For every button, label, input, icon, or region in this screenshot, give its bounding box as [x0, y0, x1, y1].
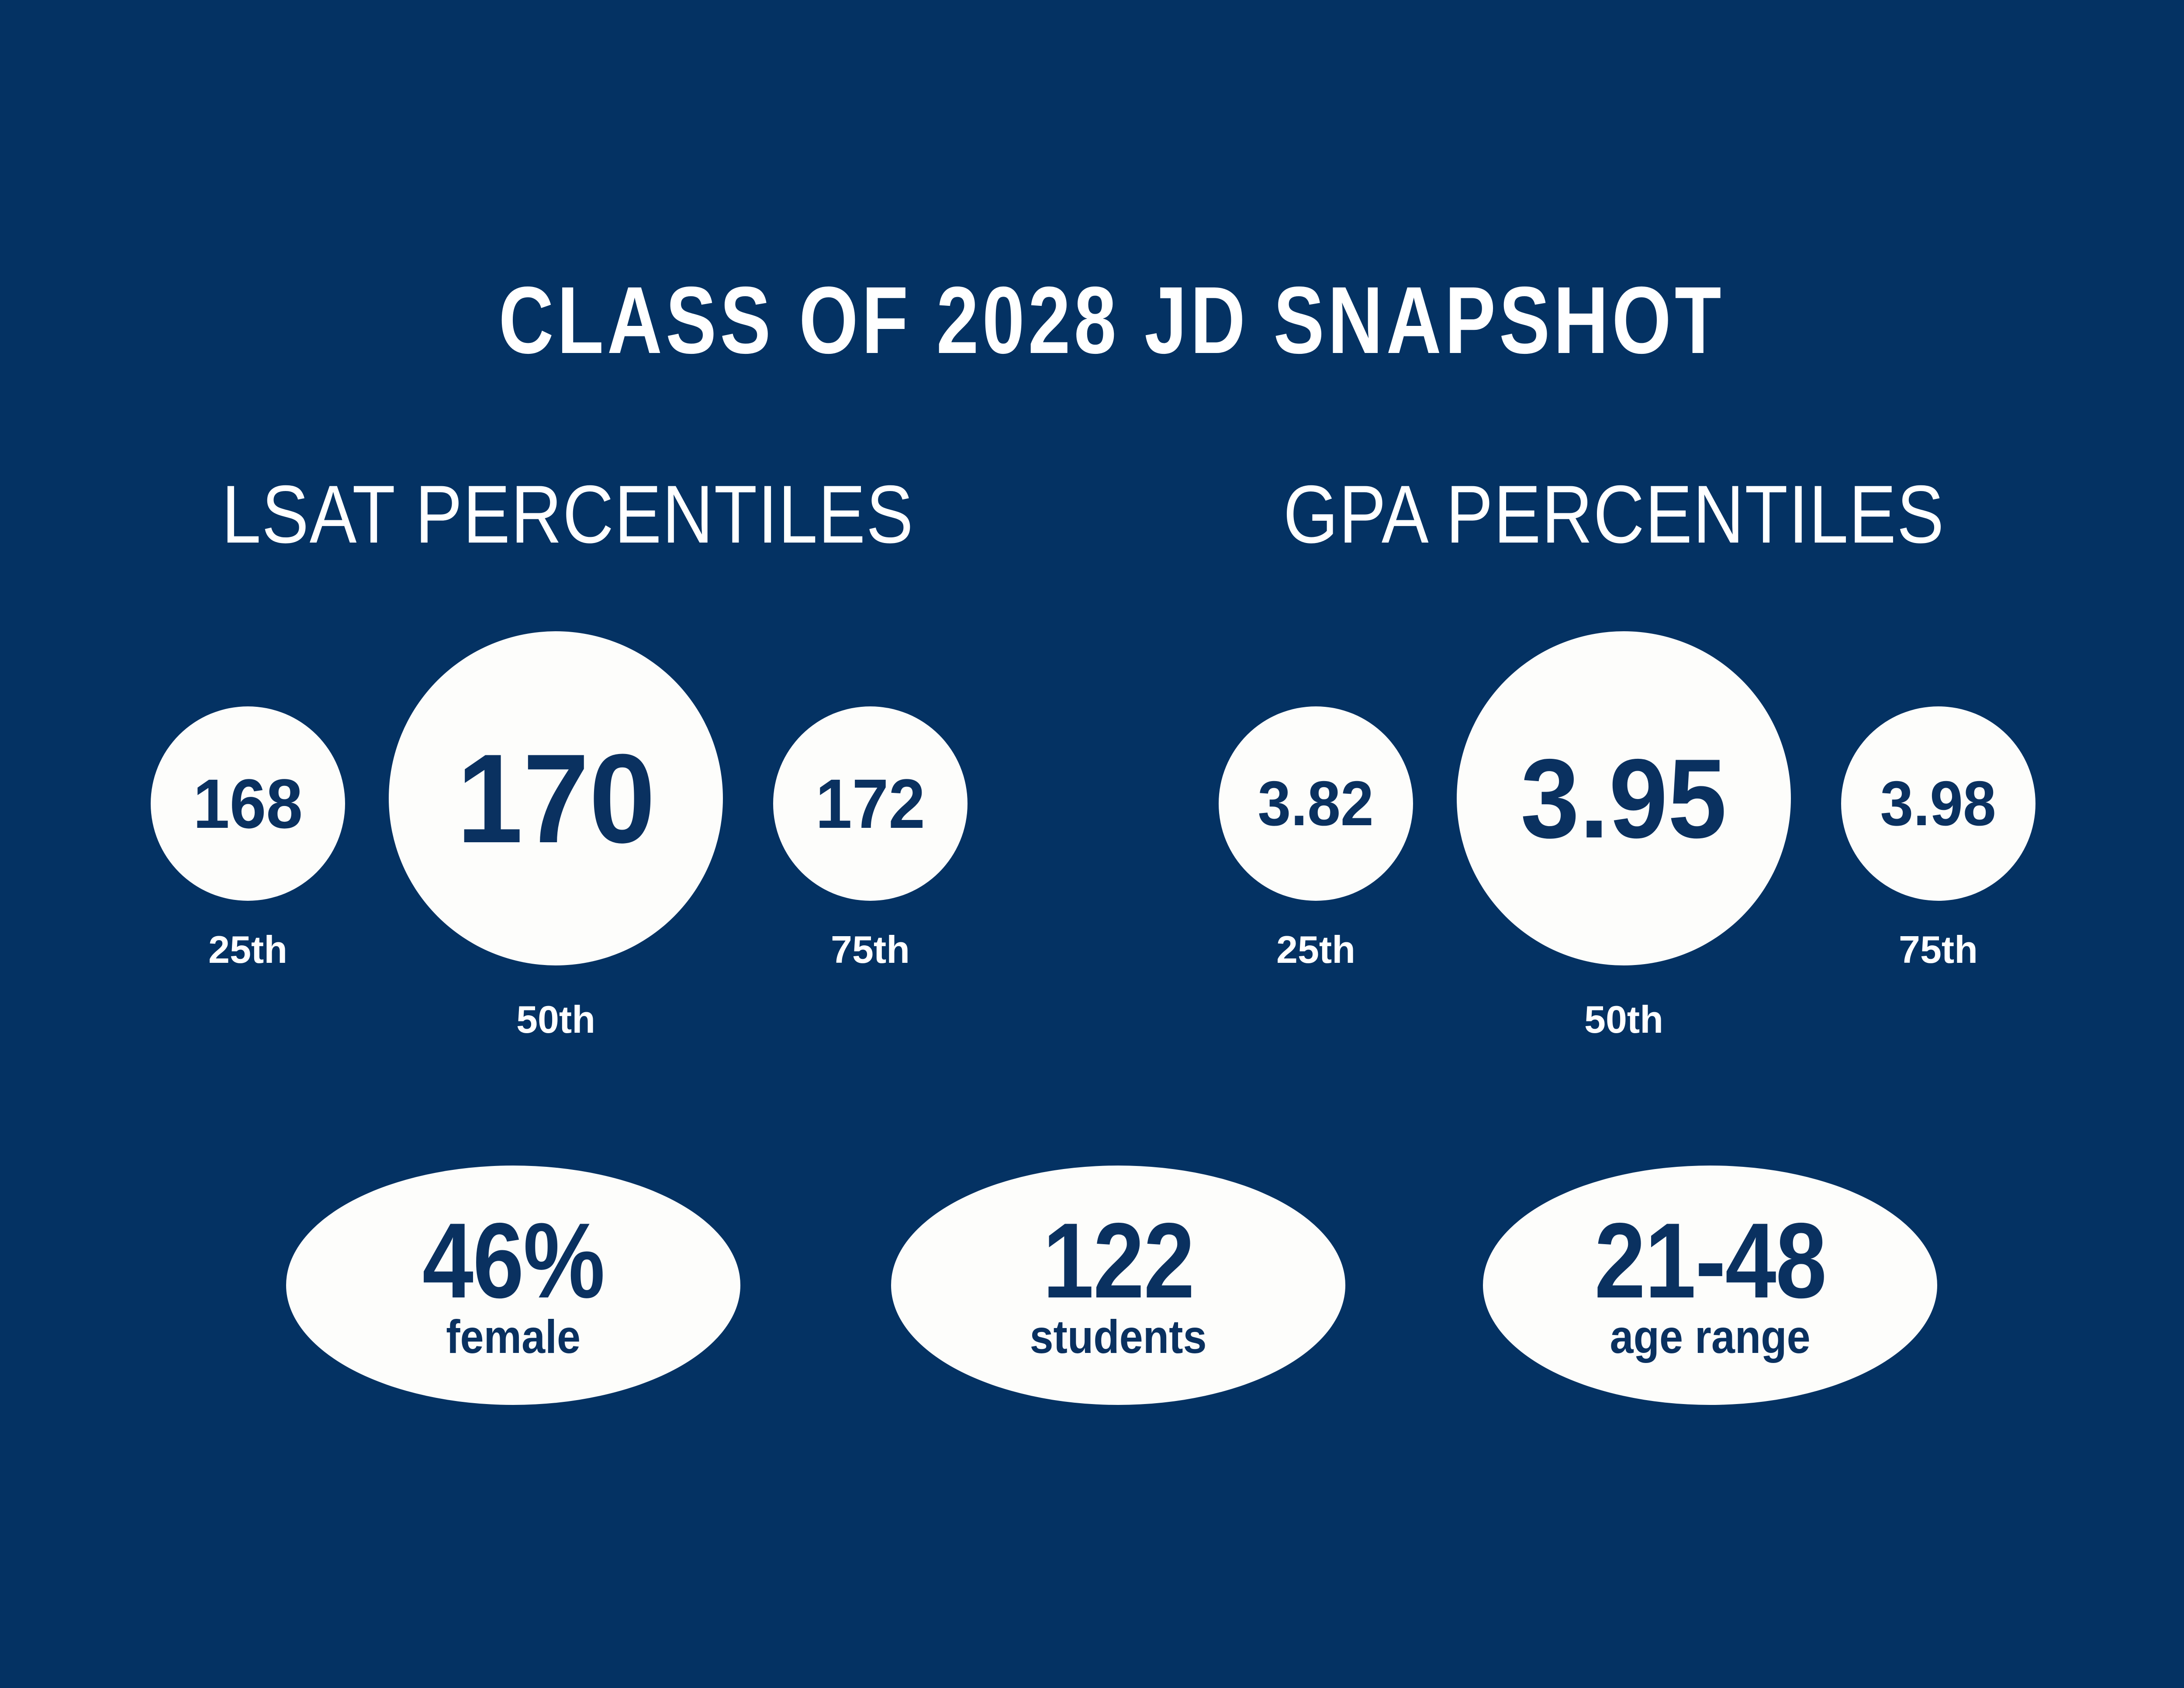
gpa-value-75th: 3.98 [1880, 772, 1996, 835]
lsat-percentile-group: 168 25th 170 50th 172 75th [131, 625, 996, 1040]
lsat-label-50th: 50th [389, 1000, 723, 1039]
gpa-value-50th: 3.95 [1521, 742, 1727, 855]
page-title: CLASS OF 2028 JD SNAPSHOT [222, 271, 2001, 371]
section-heading-lsat: LSAT PERCENTILES [156, 473, 979, 555]
gpa-label-25th: 25th [1219, 930, 1413, 969]
lsat-label-25th: 25th [151, 930, 345, 969]
gpa-label-75th: 75th [1841, 930, 2035, 969]
lsat-value-50th: 170 [456, 735, 655, 862]
lsat-bubble-75th: 172 [773, 706, 968, 901]
stat-label-age-range: age range [1610, 1313, 1810, 1360]
stat-label-female: female [446, 1313, 581, 1360]
infographic-canvas: CLASS OF 2028 JD SNAPSHOT LSAT PERCENTIL… [0, 0, 2184, 1688]
stat-pill-age-range: 21-48 age range [1483, 1166, 1937, 1405]
stat-pill-students: 122 students [891, 1166, 1345, 1405]
stat-label-students: students [1030, 1313, 1206, 1360]
stat-pill-row: 46% female 122 students 21-48 age range [0, 1166, 2184, 1410]
lsat-label-75th: 75th [773, 930, 968, 969]
gpa-percentile-group: 3.82 25th 3.95 50th 3.98 75th [1199, 625, 2064, 1040]
stat-value-age-range: 21-48 [1594, 1210, 1826, 1311]
lsat-value-25th: 168 [193, 769, 303, 839]
gpa-bubble-75th: 3.98 [1841, 706, 2035, 901]
lsat-bubble-50th: 170 [389, 631, 723, 965]
stat-value-students: 122 [1043, 1210, 1194, 1311]
section-heading-gpa: GPA PERCENTILES [1203, 473, 2025, 555]
lsat-value-75th: 172 [816, 769, 925, 839]
stat-pill-female: 46% female [286, 1166, 740, 1405]
lsat-bubble-25th: 168 [151, 706, 345, 901]
gpa-value-25th: 3.82 [1258, 772, 1374, 835]
gpa-bubble-25th: 3.82 [1219, 706, 1413, 901]
gpa-bubble-50th: 3.95 [1457, 631, 1791, 965]
stat-value-female: 46% [422, 1210, 605, 1311]
gpa-label-50th: 50th [1457, 1000, 1791, 1039]
